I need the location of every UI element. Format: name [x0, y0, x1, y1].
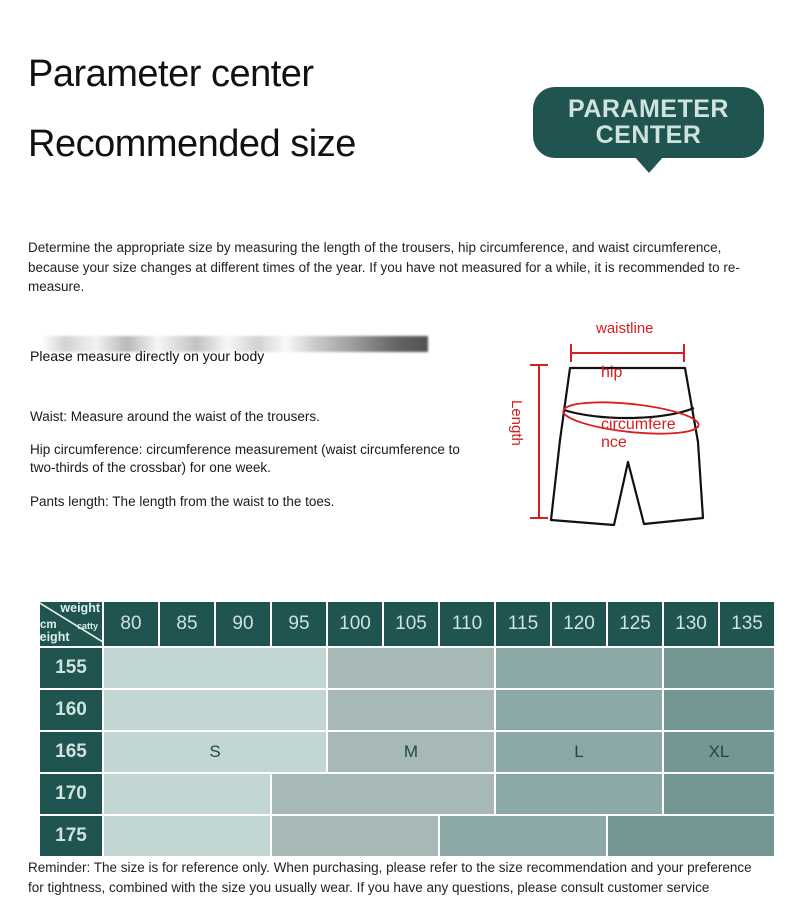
table-header-row: weight catty cm height 80 85 90 95 100 1…: [40, 602, 774, 646]
list-item: Waist: Measure around the waist of the t…: [30, 408, 460, 426]
page-title: Parameter center Recommended size: [28, 55, 356, 163]
column-header: 85: [160, 602, 214, 646]
corner-height-label: height: [40, 630, 70, 644]
table-row: 155: [40, 648, 774, 688]
list-item: Pants length: The length from the waist …: [30, 493, 460, 511]
size-cell-xl: [608, 816, 774, 856]
size-table: weight catty cm height 80 85 90 95 100 1…: [38, 600, 776, 858]
badge-label-line-1: PARAMETER: [533, 96, 764, 122]
column-header: 80: [104, 602, 158, 646]
row-header: 165: [40, 732, 102, 772]
parameter-center-badge: PARAMETER CENTER: [533, 87, 764, 158]
shorts-measurement-diagram: waistline Length hip circumfere nce: [498, 320, 778, 550]
column-header: 125: [608, 602, 662, 646]
column-header: 115: [496, 602, 550, 646]
circumference-label-line-1: circumfere: [601, 416, 676, 434]
table-row: 165SMLXL: [40, 732, 774, 772]
table-row: 160: [40, 690, 774, 730]
column-header: 90: [216, 602, 270, 646]
column-header: 130: [664, 602, 718, 646]
table-row: 175: [40, 816, 774, 856]
list-item: Hip circumference: circumference measure…: [30, 441, 460, 477]
size-cell-m: [328, 690, 494, 730]
table-body: 155160165SMLXL170175: [40, 648, 774, 856]
circumference-label-line-2: nce: [601, 434, 676, 452]
measure-instructions-heading: Please measure directly on your body: [30, 348, 264, 364]
column-header: 110: [440, 602, 494, 646]
badge-tail-icon: [634, 156, 664, 173]
measure-instructions-list: Waist: Measure around the waist of the t…: [30, 408, 460, 526]
size-cell-m: [328, 648, 494, 688]
size-cell-s: [104, 816, 270, 856]
size-label: S: [209, 742, 220, 761]
size-cell-s: [104, 690, 326, 730]
size-label: XL: [709, 742, 730, 761]
row-header: 155: [40, 648, 102, 688]
size-cell-l: L: [496, 732, 662, 772]
row-header: 175: [40, 816, 102, 856]
size-cell-s: S: [104, 732, 326, 772]
hip-label: hip: [601, 364, 622, 382]
size-cell-s: [104, 774, 270, 814]
size-cell-xl: XL: [664, 732, 774, 772]
intro-paragraph: Determine the appropriate size by measur…: [28, 238, 756, 297]
badge-label-line-2: CENTER: [533, 122, 764, 148]
size-cell-l: [440, 816, 606, 856]
column-header: 135: [720, 602, 774, 646]
size-cell-m: M: [328, 732, 494, 772]
corner-catty-label: catty: [77, 621, 98, 631]
circumference-label: circumfere nce: [601, 416, 676, 453]
size-cell-l: [496, 774, 662, 814]
badge-bubble: PARAMETER CENTER: [533, 87, 764, 158]
size-cell-m: [272, 774, 494, 814]
length-label: Length: [508, 400, 525, 446]
row-header: 160: [40, 690, 102, 730]
size-guide-page: Parameter center Recommended size PARAME…: [0, 0, 790, 924]
waistline-label: waistline: [596, 320, 654, 337]
column-header: 120: [552, 602, 606, 646]
table-row: 170: [40, 774, 774, 814]
size-label: L: [574, 742, 583, 761]
column-header: 95: [272, 602, 326, 646]
page-title-line-2: Recommended size: [28, 125, 356, 163]
column-header: 100: [328, 602, 382, 646]
size-cell-xl: [664, 690, 774, 730]
row-header: 170: [40, 774, 102, 814]
size-cell-s: [104, 648, 326, 688]
reminder-note: Reminder: The size is for reference only…: [28, 858, 768, 897]
size-cell-xl: [664, 774, 774, 814]
size-label: M: [404, 742, 418, 761]
size-matrix: weight catty cm height 80 85 90 95 100 1…: [38, 600, 752, 858]
size-cell-xl: [664, 648, 774, 688]
size-cell-m: [272, 816, 438, 856]
page-title-line-1: Parameter center: [28, 55, 356, 93]
table-corner-cell: weight catty cm height: [40, 602, 102, 646]
corner-weight-label: weight: [60, 602, 100, 615]
size-cell-l: [496, 690, 662, 730]
size-cell-l: [496, 648, 662, 688]
column-header: 105: [384, 602, 438, 646]
